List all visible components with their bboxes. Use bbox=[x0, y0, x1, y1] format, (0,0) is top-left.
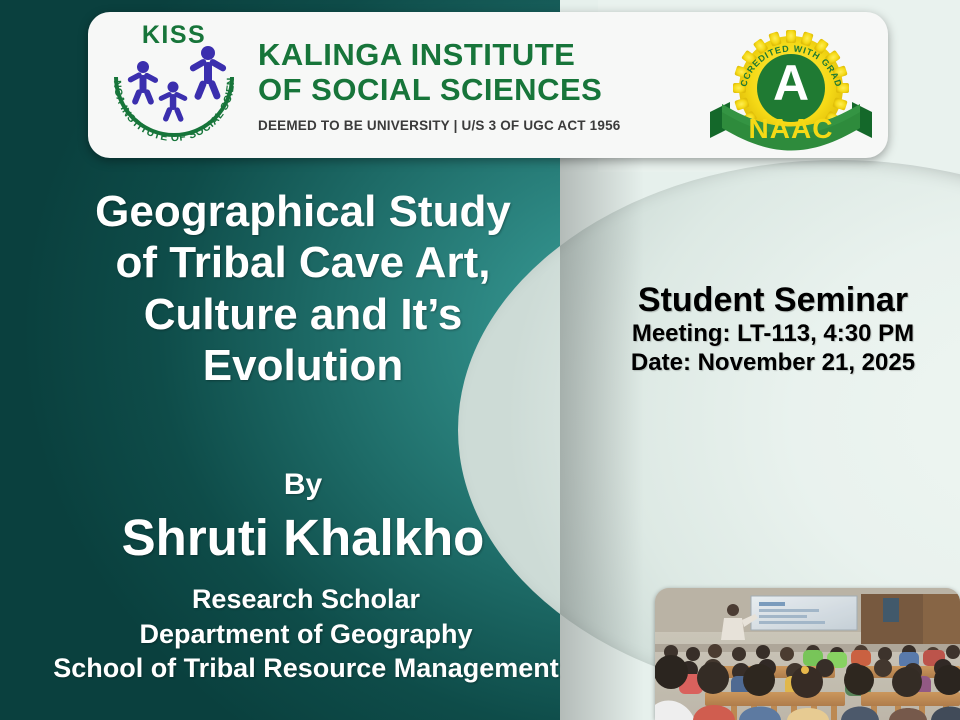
kiss-logo-icon: KISS KALINGA INSTITUTE OF SOCIAL SCIENCE… bbox=[98, 15, 250, 155]
seminar-meeting: Meeting: LT-113, 4:30 PM bbox=[592, 319, 954, 348]
seminar-date: Date: November 21, 2025 bbox=[592, 348, 954, 377]
lecture-hall-photo bbox=[655, 588, 960, 720]
institution-name-block: KALINGA INSTITUTE OF SOCIAL SCIENCES DEE… bbox=[250, 37, 702, 133]
presenter-role: Research Scholar bbox=[8, 582, 604, 617]
svg-text:NAAC: NAAC bbox=[749, 113, 834, 144]
svg-text:A: A bbox=[773, 55, 809, 111]
slide-title: Geographical Study of Tribal Cave Art, C… bbox=[20, 186, 586, 392]
naac-accreditation-icon: ACCREDITED WITH GRADE A NAAC bbox=[702, 16, 880, 154]
presenter-department: Department of Geography bbox=[8, 617, 604, 652]
institution-name-line2: OF SOCIAL SCIENCES bbox=[258, 72, 702, 107]
seminar-heading: Student Seminar bbox=[592, 282, 954, 319]
presentation-slide: KISS KALINGA INSTITUTE OF SOCIAL SCIENCE… bbox=[0, 0, 960, 720]
institution-logo-card: KISS KALINGA INSTITUTE OF SOCIAL SCIENCE… bbox=[88, 12, 888, 158]
seminar-info-block: Student Seminar Meeting: LT-113, 4:30 PM… bbox=[592, 282, 954, 377]
presenter-school: School of Tribal Resource Management bbox=[8, 651, 604, 686]
by-label: By bbox=[20, 468, 586, 502]
presenter-name: Shruti Khalkho bbox=[20, 508, 586, 567]
title-line-1: Geographical Study bbox=[20, 186, 586, 237]
title-line-3: Culture and It’s bbox=[20, 289, 586, 340]
svg-text:KISS: KISS bbox=[142, 21, 206, 49]
institution-subtitle: DEEMED TO BE UNIVERSITY | U/S 3 OF UGC A… bbox=[258, 118, 702, 133]
title-line-2: of Tribal Cave Art, bbox=[20, 237, 586, 288]
institution-name-line1: KALINGA INSTITUTE bbox=[258, 37, 702, 72]
presenter-affiliation: Research Scholar Department of Geography… bbox=[8, 582, 604, 686]
title-line-4: Evolution bbox=[20, 340, 586, 391]
